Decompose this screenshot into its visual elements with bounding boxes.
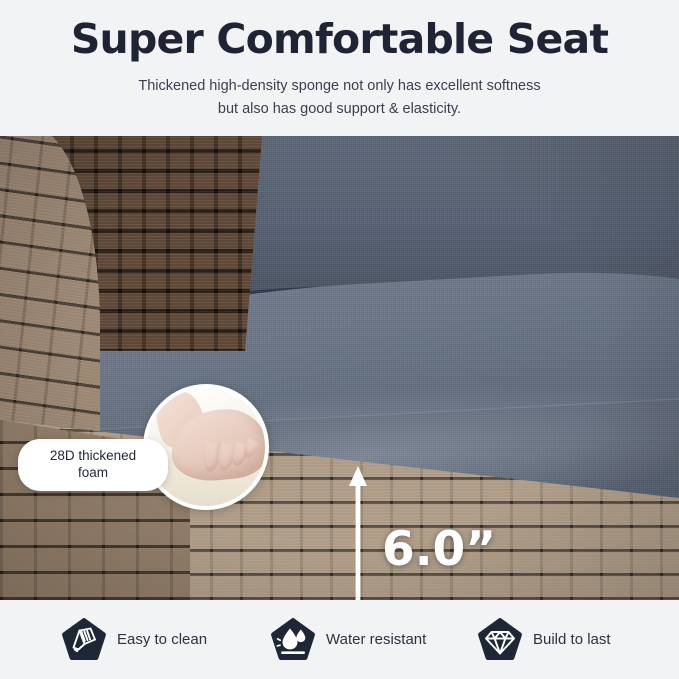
feature-label: Easy to clean [117,631,207,648]
water-resistant-icon [271,618,315,662]
subtitle-line-2: but also has good support & elasticity. [80,98,600,120]
feature-label: Water resistant [326,631,426,648]
page-subtitle: Thickened high-density sponge not only h… [80,75,600,120]
thickness-value-label: 6.0” [382,522,496,577]
feature-build-to-last: Build to last [472,618,679,662]
feature-water-resistant: Water resistant [263,618,472,662]
page-title: Super Comfortable Seat [0,14,679,65]
product-photo: 28D thickened foam 6.0” [0,136,679,600]
feature-label: Build to last [533,631,611,648]
foam-callout-line-2: foam [78,465,108,480]
subtitle-line-1: Thickened high-density sponge not only h… [138,78,540,94]
foam-callout-pill: 28D thickened foam [18,439,168,491]
product-feature-banner: Super Comfortable Seat Thickened high-de… [0,0,679,679]
foam-callout-line-1: 28D thickened [50,448,136,463]
feature-easy-to-clean: Easy to clean [0,618,263,662]
easy-to-clean-icon [62,618,106,662]
features-bar: Easy to clean Water resistant [0,600,679,679]
build-to-last-icon [478,618,522,662]
header-section: Super Comfortable Seat Thickened high-de… [0,0,679,136]
thickness-measure-arrow [348,466,368,600]
